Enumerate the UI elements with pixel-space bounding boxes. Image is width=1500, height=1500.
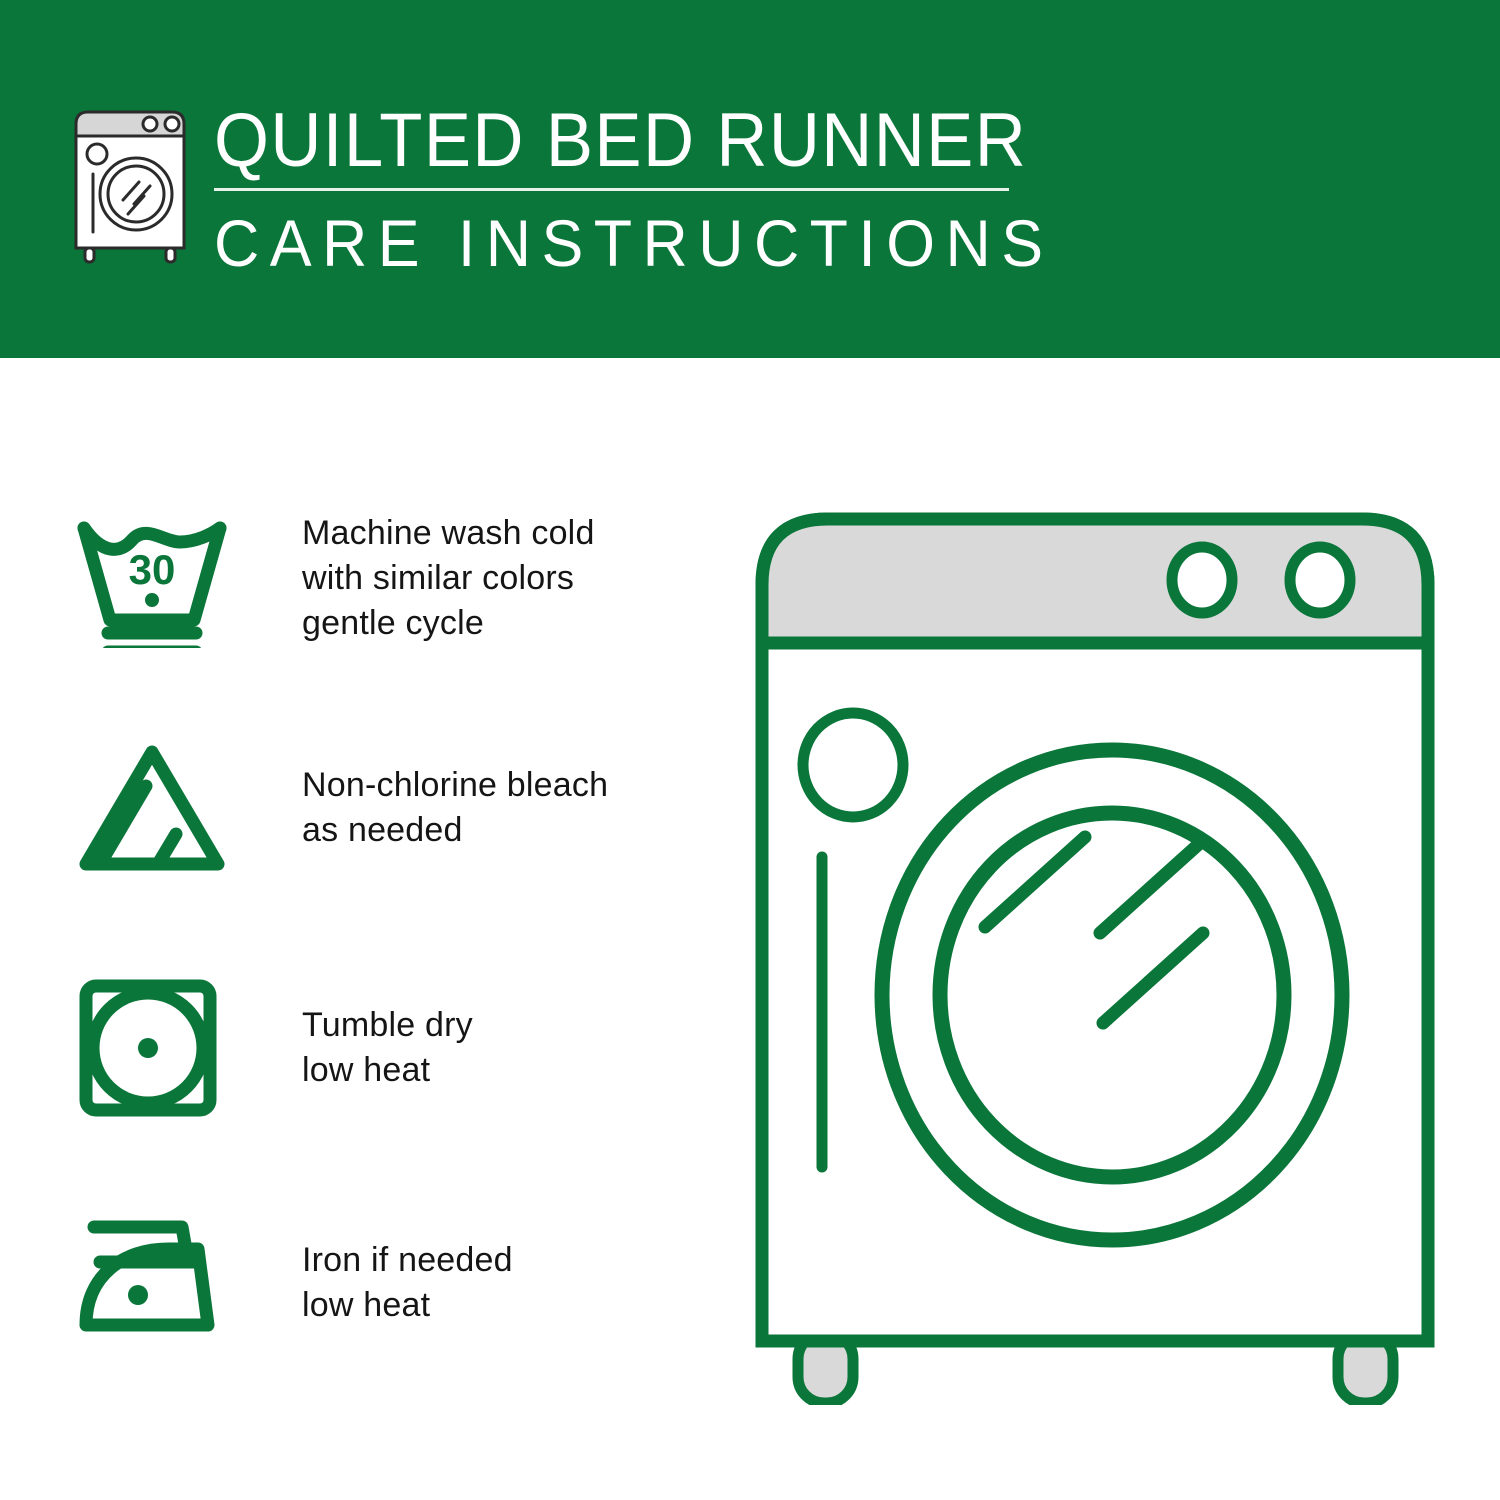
- care-row-tumble-dry: Tumble dry low heat: [0, 978, 700, 1118]
- care-label-tumble-dry: Tumble dry low heat: [302, 1003, 473, 1093]
- header-divider: [214, 188, 1009, 191]
- front-load-washing-machine-illustration: [740, 495, 1450, 1405]
- wash-tub-30-icon: 30: [72, 508, 232, 648]
- non-chlorine-bleach-triangle-icon: [72, 738, 232, 878]
- care-label-bleach: Non-chlorine bleach as needed: [302, 763, 608, 853]
- iron-low-heat-icon: [72, 1213, 232, 1353]
- care-row-machine-wash: 30 Machine wash cold with similar colors…: [0, 508, 700, 648]
- header-text-block: QUILTED BED RUNNER CARE INSTRUCTIONS: [214, 100, 1024, 279]
- control-knob-right: [1290, 547, 1350, 613]
- tumble-dry-low-icon: [72, 978, 232, 1118]
- machine-door-inner-ring: [940, 813, 1284, 1177]
- care-instructions-list: 30 Machine wash cold with similar colors…: [0, 358, 700, 1500]
- detergent-dispenser: [803, 713, 903, 817]
- washing-machine-icon: [66, 104, 194, 264]
- care-row-bleach: Non-chlorine bleach as needed: [0, 738, 700, 878]
- page-title: QUILTED BED RUNNER: [214, 100, 967, 182]
- page-subtitle: CARE INSTRUCTIONS: [214, 207, 984, 279]
- control-knob-left: [1172, 547, 1232, 613]
- care-label-iron: Iron if needed low heat: [302, 1238, 513, 1328]
- care-label-machine-wash: Machine wash cold with similar colors ge…: [302, 511, 595, 646]
- care-row-iron: Iron if needed low heat: [0, 1213, 700, 1353]
- care-instructions-page: QUILTED BED RUNNER CARE INSTRUCTIONS 30: [0, 0, 1500, 1500]
- wash-temperature-label: 30: [129, 546, 176, 593]
- header-band: QUILTED BED RUNNER CARE INSTRUCTIONS: [0, 0, 1500, 358]
